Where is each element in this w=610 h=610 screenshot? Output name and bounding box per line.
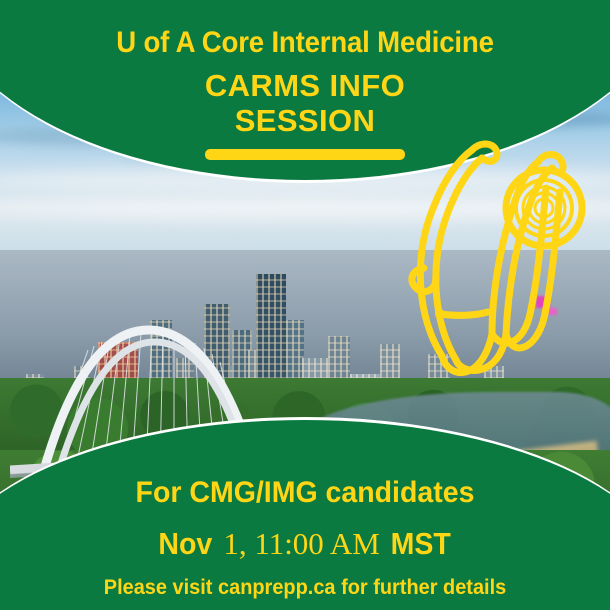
datetime-timezone: MST: [391, 528, 451, 559]
datetime-line: Nov 1, 11:00 AM MST: [0, 528, 610, 559]
page-title: U of A Core Internal Medicine: [24, 28, 585, 58]
call-to-action-line: Please visit canprepp.ca for further det…: [15, 577, 595, 598]
yellow-divider-bar: [205, 149, 405, 160]
carms-info-session-poster: U of A Core Internal Medicine CARMS INFO…: [0, 0, 610, 610]
datetime-value: 1, 11:00 AM: [223, 526, 379, 561]
title-carms-info: CARMS INFO: [0, 69, 610, 104]
title-session: SESSION: [0, 104, 610, 139]
poster-footer: For CMG/IMG candidates Nov 1, 11:00 AM M…: [0, 478, 610, 610]
datetime-month: Nov: [158, 528, 212, 559]
audience-line: For CMG/IMG candidates: [15, 478, 595, 508]
stethoscope-icon: [396, 128, 610, 378]
poster-header: U of A Core Internal Medicine CARMS INFO…: [0, 0, 610, 138]
